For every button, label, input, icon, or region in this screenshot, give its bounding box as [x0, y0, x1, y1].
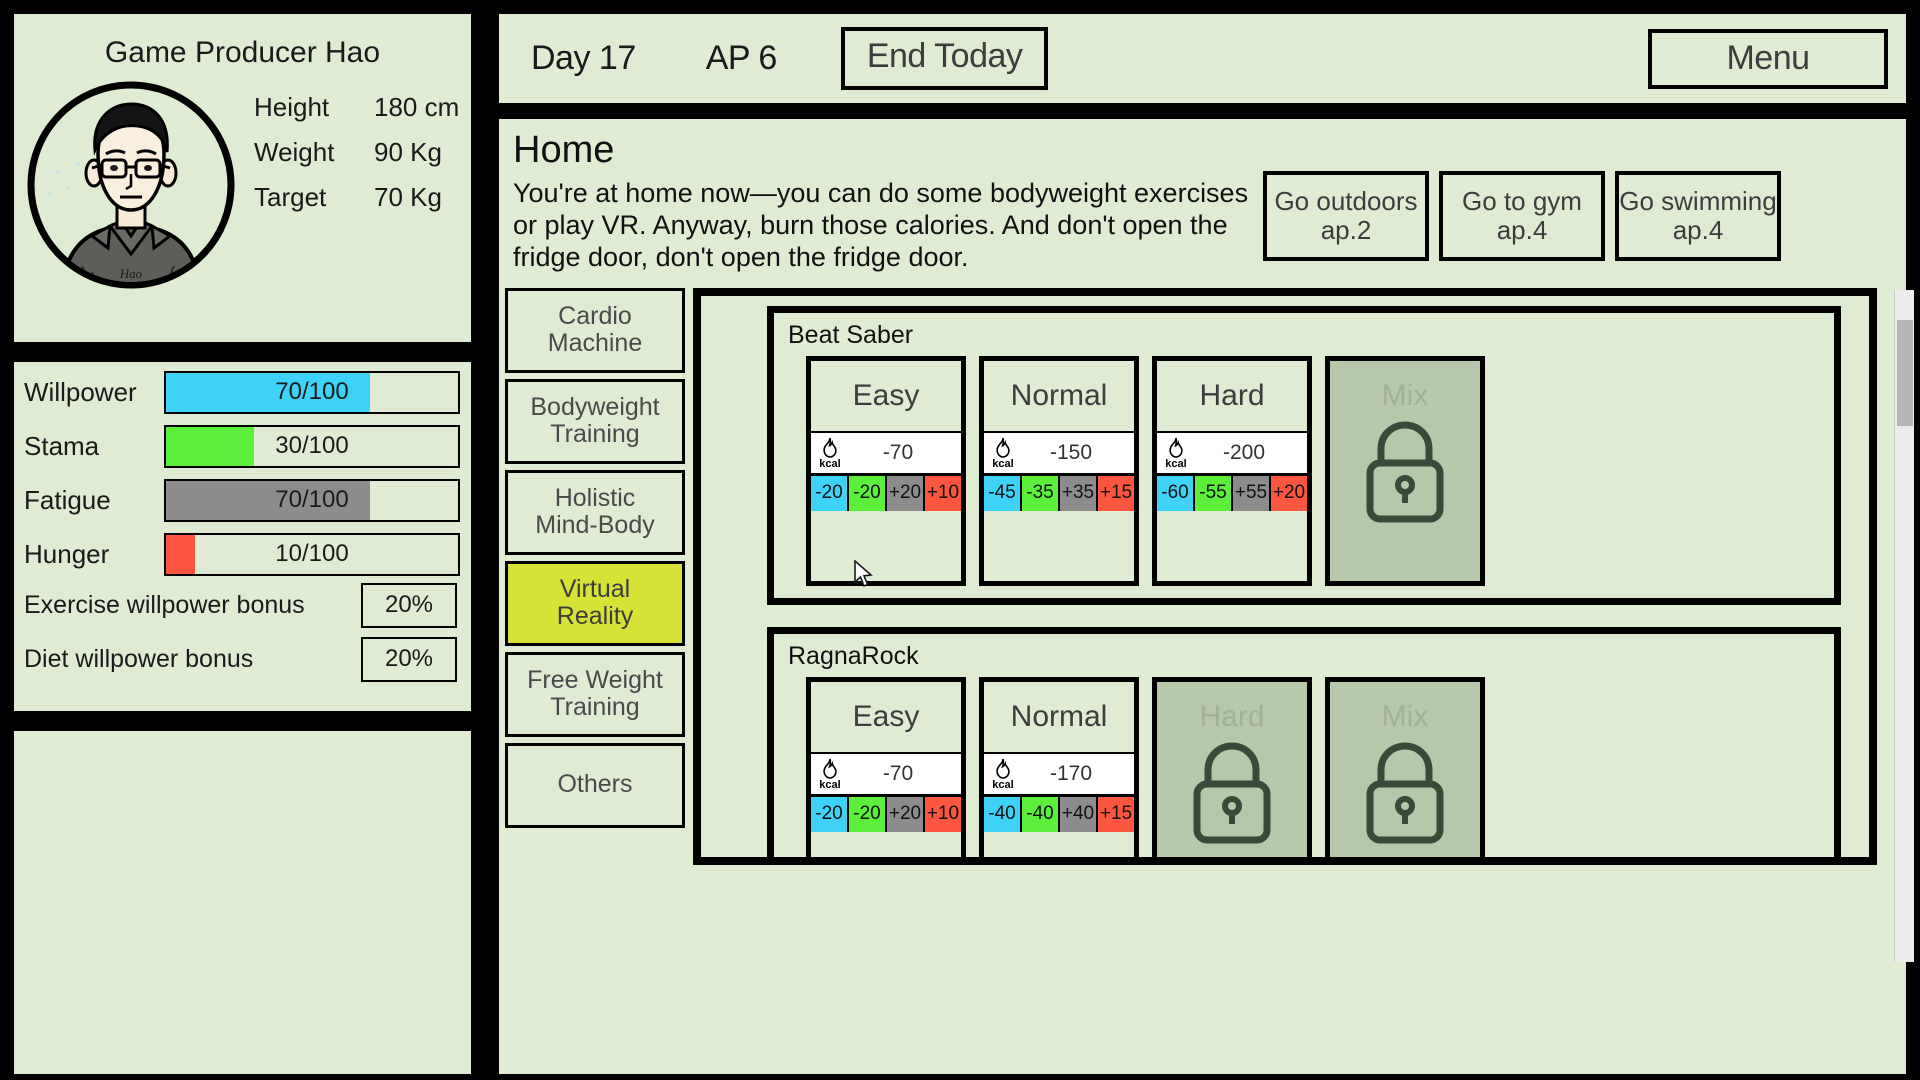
stat-label: Target [254, 182, 360, 213]
action-cost: ap.2 [1321, 216, 1372, 245]
effect-chip: +15 [1098, 476, 1134, 511]
ap-counter: AP 6 [706, 39, 777, 78]
category-line2: Training [550, 694, 639, 722]
effect-chip: -60 [1157, 476, 1195, 511]
category-line1: Cardio [558, 303, 632, 331]
kcal-row: kcal -200 [1157, 431, 1307, 473]
bar-label: Willpower [24, 377, 164, 408]
effect-chip: -40 [1022, 797, 1060, 832]
flame-icon: kcal [815, 757, 845, 791]
go-outdoors-button[interactable]: Go outdoors ap.2 [1263, 171, 1429, 261]
flame-icon: kcal [815, 436, 845, 470]
difficulty-name: Hard [1157, 361, 1307, 431]
effect-chip: -55 [1195, 476, 1233, 511]
effect-chip-row: -60-55+55+20 [1157, 473, 1307, 511]
difficulty-name: Normal [984, 682, 1134, 752]
effect-chip: +20 [887, 797, 925, 832]
effect-chip: -40 [984, 797, 1022, 832]
difficulty-card-normal[interactable]: Normal kcal -150 -45-35+35+15 [979, 356, 1139, 586]
difficulty-name: Easy [811, 682, 961, 752]
kcal-value: -70 [845, 441, 957, 465]
day-counter: Day 17 [531, 39, 636, 78]
bonus-row-exercise: Exercise willpower bonus 20% [24, 578, 471, 632]
difficulty-card-mix[interactable]: Mix [1325, 677, 1485, 865]
kcal-unit-label: kcal [819, 459, 840, 470]
difficulty-card-easy[interactable]: Easy kcal -70 -20-20+20+10 [806, 356, 966, 586]
effect-chip: +55 [1233, 476, 1271, 511]
bar-track: 70/100 [164, 371, 460, 414]
stat-value: 70 Kg [374, 182, 442, 213]
category-virtual-reality[interactable]: Virtual Reality [505, 561, 685, 646]
flame-icon: kcal [988, 757, 1018, 791]
kcal-row: kcal -70 [811, 431, 961, 473]
kcal-value: -150 [1018, 441, 1130, 465]
status-bar-stama: Stama 30/100 [24, 422, 471, 470]
bar-value: 70/100 [166, 373, 458, 412]
vertical-scrollbar[interactable] [1894, 290, 1914, 962]
content-row: Cardio Machine Bodyweight Training Holis… [499, 288, 1906, 865]
lock-overlay [1330, 682, 1480, 865]
status-bar-fatigue: Fatigue 70/100 [24, 476, 471, 524]
action-label: Go to gym [1462, 187, 1582, 216]
location-info: Home You're at home now—you can do some … [513, 129, 1253, 274]
category-bodyweight-training[interactable]: Bodyweight Training [505, 379, 685, 464]
main-panel: Home You're at home now—you can do some … [491, 111, 1914, 1074]
category-line2: Mind-Body [535, 512, 655, 540]
effect-chip: +35 [1060, 476, 1098, 511]
kcal-row: kcal -150 [984, 431, 1134, 473]
game-card-list: Beat Saber Easy kcal -70 -20-20+20+10 [701, 296, 1869, 865]
stat-label: Height [254, 92, 360, 123]
status-panel: Willpower 70/100 Stama 30/100 Fatigue 70… [6, 354, 479, 719]
lock-overlay [1157, 682, 1307, 865]
stat-value: 180 cm [374, 92, 459, 123]
category-free-weight-training[interactable]: Free Weight Training [505, 652, 685, 737]
category-others[interactable]: Others [505, 743, 685, 828]
end-today-button[interactable]: End Today [841, 27, 1049, 90]
effect-chip: +10 [925, 476, 961, 511]
bonus-label: Exercise willpower bonus [24, 591, 361, 620]
effect-chip-row: -20-20+20+10 [811, 794, 961, 832]
action-cost: ap.4 [1673, 216, 1724, 245]
lock-icon [1362, 419, 1448, 523]
category-line1: Free Weight [527, 667, 663, 695]
effect-chip: -20 [849, 797, 887, 832]
difficulty-card-mix[interactable]: Mix [1325, 356, 1485, 586]
effect-chip-row: -20-20+20+10 [811, 473, 961, 511]
stat-row: Height 180 cm [254, 92, 459, 123]
location-header: Home You're at home now—you can do some … [499, 119, 1906, 274]
category-cardio-machine[interactable]: Cardio Machine [505, 288, 685, 373]
flame-icon: kcal [1161, 436, 1191, 470]
kcal-unit-label: kcal [1165, 459, 1186, 470]
difficulty-name: Normal [984, 361, 1134, 431]
effect-chip: +20 [887, 476, 925, 511]
stat-row: Target 70 Kg [254, 182, 459, 213]
kcal-value: -170 [1018, 762, 1130, 786]
go-to-gym-button[interactable]: Go to gym ap.4 [1439, 171, 1605, 261]
bar-value: 10/100 [166, 535, 458, 574]
difficulty-card-hard[interactable]: Hard kcal -200 -60-55+55+20 [1152, 356, 1312, 586]
game-card: Beat Saber Easy kcal -70 -20-20+20+10 [767, 306, 1841, 605]
location-description: You're at home now—you can do some bodyw… [513, 178, 1253, 274]
category-line1: Holistic [555, 485, 636, 513]
effect-chip: +20 [1271, 476, 1307, 511]
effect-chip-row: -40-40+40+15 [984, 794, 1134, 832]
character-body: Hao Height 180 cm Weight 90 Kg Target 70… [14, 76, 471, 294]
category-holistic-mind-body[interactable]: Holistic Mind-Body [505, 470, 685, 555]
flame-icon: kcal [988, 436, 1018, 470]
category-line2: Training [550, 421, 639, 449]
kcal-value: -70 [845, 762, 957, 786]
status-bar-willpower: Willpower 70/100 [24, 368, 471, 416]
category-line1: Others [557, 771, 632, 799]
location-actions: Go outdoors ap.2 Go to gym ap.4 Go swimm… [1263, 171, 1781, 274]
shirt-label: Hao [119, 266, 143, 281]
difficulty-row: Easy kcal -70 -20-20+20+10 Normal [774, 356, 1834, 586]
action-cost: ap.4 [1497, 216, 1548, 245]
kcal-unit-label: kcal [992, 459, 1013, 470]
bonus-label: Diet willpower bonus [24, 645, 361, 674]
status-bar-hunger: Hunger 10/100 [24, 530, 471, 578]
mouse-cursor-icon [853, 560, 875, 590]
stat-row: Weight 90 Kg [254, 137, 459, 168]
category-list: Cardio Machine Bodyweight Training Holis… [505, 288, 685, 865]
game-title: RagnaRock [788, 642, 1834, 671]
bar-label: Hunger [24, 539, 164, 570]
bar-track: 10/100 [164, 533, 460, 576]
category-line2: Reality [557, 603, 633, 631]
effect-chip: +40 [1060, 797, 1098, 832]
right-content: Day 17 AP 6 End Today Menu Home You're a… [485, 0, 1920, 1080]
kcal-unit-label: kcal [992, 780, 1013, 791]
kcal-row: kcal -70 [811, 752, 961, 794]
bar-track: 70/100 [164, 479, 460, 522]
bonus-value: 20% [361, 637, 457, 682]
effect-chip: -20 [811, 476, 849, 511]
left-sidebar: Game Producer Hao [0, 0, 485, 1080]
stat-label: Weight [254, 137, 360, 168]
difficulty-card-normal[interactable]: Normal kcal -170 -40-40+40+15 [979, 677, 1139, 865]
bar-label: Fatigue [24, 485, 164, 516]
game-screen: Game Producer Hao [0, 0, 1920, 1080]
effect-chip: +10 [925, 797, 961, 832]
effect-chip: -20 [811, 797, 849, 832]
page-title: Home [513, 129, 1253, 172]
effect-chip: +15 [1098, 797, 1134, 832]
effect-chip-row: -45-35+35+15 [984, 473, 1134, 511]
category-line2: Machine [548, 330, 643, 358]
lock-icon [1362, 740, 1448, 844]
top-bar: Day 17 AP 6 End Today Menu [491, 6, 1914, 111]
difficulty-row: Easy kcal -70 -20-20+20+10 Normal [774, 677, 1834, 865]
effect-chip: -45 [984, 476, 1022, 511]
lock-icon [1189, 740, 1275, 844]
category-line1: Virtual [560, 576, 630, 604]
character-name: Game Producer Hao [14, 36, 471, 70]
lock-overlay [1330, 361, 1480, 581]
avatar: Hao [22, 76, 240, 294]
bar-label: Stama [24, 431, 164, 462]
stat-value: 90 Kg [374, 137, 442, 168]
effect-chip: -35 [1022, 476, 1060, 511]
game-card: RagnaRock Easy kcal -70 -20-20+20+10 [767, 627, 1841, 865]
bar-value: 70/100 [166, 481, 458, 520]
game-title: Beat Saber [788, 321, 1834, 350]
kcal-row: kcal -170 [984, 752, 1134, 794]
category-line1: Bodyweight [530, 394, 659, 422]
left-empty-panel [6, 723, 479, 1074]
scrollbar-thumb[interactable] [1897, 320, 1913, 426]
difficulty-card-easy[interactable]: Easy kcal -70 -20-20+20+10 [806, 677, 966, 865]
bar-value: 30/100 [166, 427, 458, 466]
menu-button[interactable]: Menu [1648, 29, 1888, 89]
effect-chip: -20 [849, 476, 887, 511]
action-label: Go outdoors [1274, 187, 1417, 216]
bonus-value: 20% [361, 583, 457, 628]
character-stats: Height 180 cm Weight 90 Kg Target 70 Kg [254, 92, 459, 294]
action-label: Go swimming [1619, 187, 1776, 216]
difficulty-card-hard[interactable]: Hard [1152, 677, 1312, 865]
difficulty-name: Easy [811, 361, 961, 431]
bar-track: 30/100 [164, 425, 460, 468]
kcal-value: -200 [1191, 441, 1303, 465]
go-swimming-button[interactable]: Go swimming ap.4 [1615, 171, 1781, 261]
character-panel: Game Producer Hao [6, 6, 479, 350]
bonus-row-diet: Diet willpower bonus 20% [24, 632, 471, 686]
kcal-unit-label: kcal [819, 780, 840, 791]
